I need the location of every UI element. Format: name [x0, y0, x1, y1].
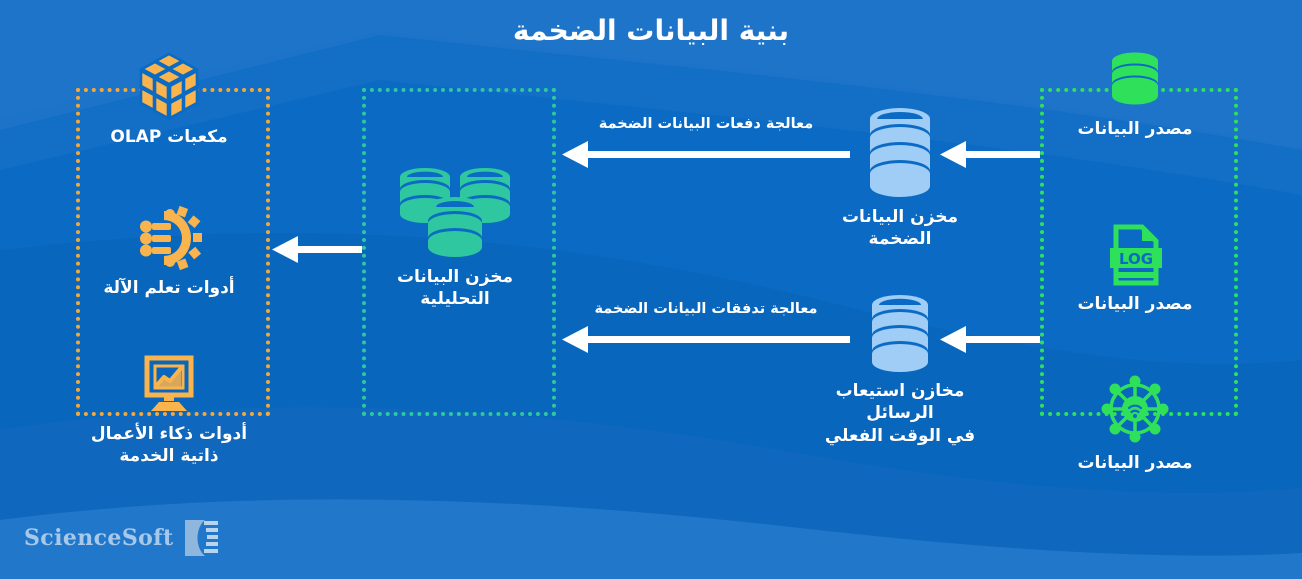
sciencesoft-logo-text: ScienceSoft [24, 525, 174, 551]
node-label: مصدر البيانات [1045, 118, 1225, 140]
arrow-source-to-stream-store [940, 325, 1040, 355]
node-analytical-data-store[interactable]: مخزن البيانات التحليلية [365, 155, 545, 311]
log-file-icon-text: LOG [1119, 250, 1153, 268]
arrow-batch-processing: معالجة دفعات البيانات الضخمة [562, 140, 850, 170]
node-label: مكعبات OLAP [79, 126, 259, 148]
node-olap-cubes[interactable]: مكعبات OLAP [79, 50, 259, 148]
node-data-source-log[interactable]: LOG مصدر البيانات [1045, 223, 1225, 315]
log-file-icon: LOG [1106, 223, 1164, 287]
node-data-source-database[interactable]: مصدر البيانات [1045, 48, 1225, 140]
iot-network-icon [1098, 372, 1172, 446]
ml-gear-icon [134, 205, 204, 271]
bi-monitor-icon [133, 355, 205, 417]
sciencesoft-logo-icon [183, 518, 219, 558]
triple-cylinder-icon [392, 155, 518, 260]
page-title: بنية البيانات الضخمة [0, 14, 1302, 47]
diagram-canvas: بنية البيانات الضخمة مصدر البيانات LOG م… [0, 0, 1302, 579]
olap-cube-icon [134, 50, 204, 120]
node-label: مخزن البيانات التحليلية [365, 266, 545, 311]
node-label: مخزن البيانات الضخمة [810, 206, 990, 251]
arrow-stream-processing: معالجة تدفقات البيانات الضخمة [562, 325, 850, 355]
sciencesoft-logo: ScienceSoft [24, 518, 219, 558]
node-self-service-bi-tools[interactable]: أدوات ذكاء الأعمال ذاتية الخدمة [79, 355, 259, 468]
data-store-cylinder-icon [860, 292, 940, 374]
arrow-source-to-batch-store [940, 140, 1040, 170]
arrow-label: معالجة دفعات البيانات الضخمة [562, 116, 850, 132]
node-label: مصدر البيانات [1045, 452, 1225, 474]
data-store-cylinder-icon [860, 105, 940, 200]
node-label: مخازن استيعاب الرسائل في الوقت الفعلي [810, 380, 990, 447]
database-icon [1103, 48, 1167, 112]
node-ml-tools[interactable]: أدوات تعلم الآلة [79, 205, 259, 299]
arrow-analytical-to-consumers [272, 235, 362, 265]
arrow-label: معالجة تدفقات البيانات الضخمة [562, 301, 850, 317]
node-label: أدوات ذكاء الأعمال ذاتية الخدمة [79, 423, 259, 468]
node-label: أدوات تعلم الآلة [79, 277, 259, 299]
node-data-source-iot[interactable]: مصدر البيانات [1045, 372, 1225, 474]
node-label: مصدر البيانات [1045, 293, 1225, 315]
